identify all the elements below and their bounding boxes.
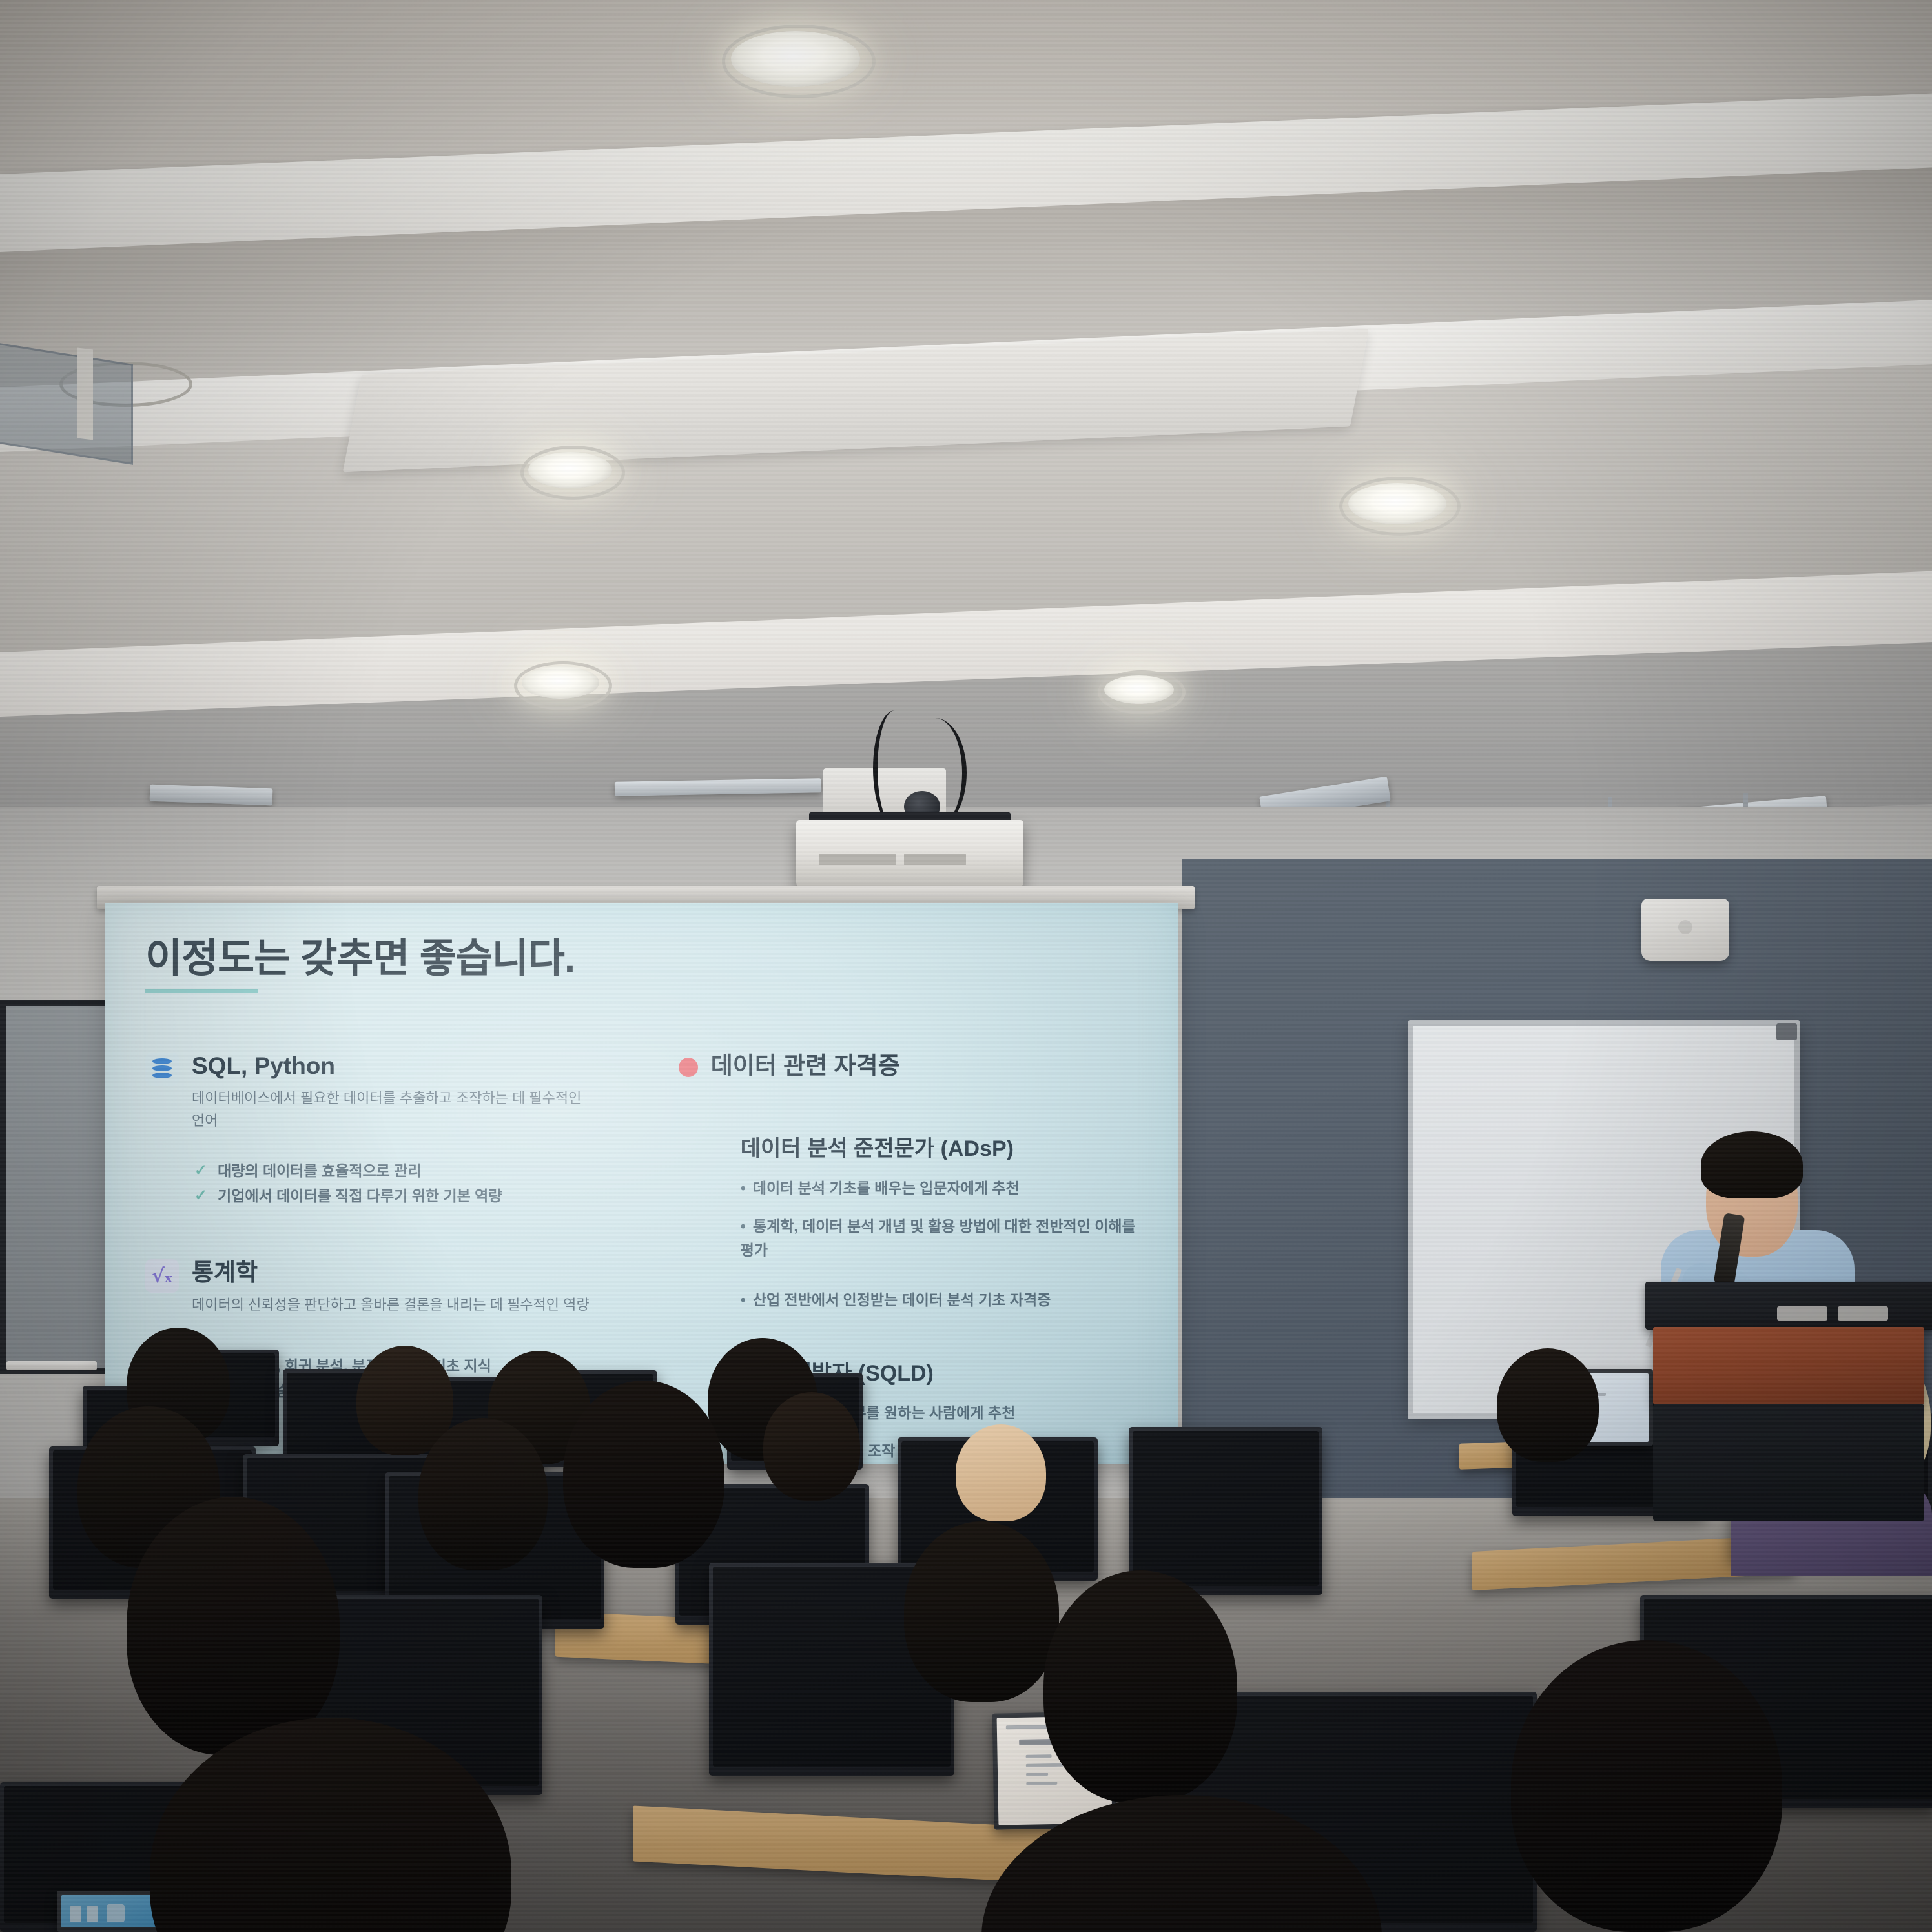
audience-head <box>1511 1640 1782 1932</box>
left-board-tray <box>6 1361 97 1370</box>
title-underline <box>145 989 258 993</box>
laptop-content-line <box>1026 1782 1057 1785</box>
certificates-heading: 데이터 관련 자격증 <box>711 1053 900 1080</box>
certificate-bullet: 데이터 분석 기초를 배우는 입문자에게 추천 <box>741 1177 1138 1200</box>
topic-description: 데이터의 신뢰성을 판단하고 올바른 결론을 내리는 데 필수적인 역량 <box>192 1293 590 1317</box>
projector-port-row <box>904 854 966 865</box>
podium <box>1653 1327 1924 1404</box>
left-wall-board <box>0 1000 111 1374</box>
audience-head <box>904 1521 1059 1702</box>
ceiling <box>0 0 1932 852</box>
downlight-ring <box>1098 670 1186 714</box>
audience-head <box>956 1424 1046 1521</box>
podium-front-panel <box>1653 1404 1924 1521</box>
audience-head <box>418 1418 548 1570</box>
monitor <box>1129 1427 1322 1595</box>
monitor-screen <box>1133 1431 1319 1586</box>
topic-checklist: ✓ 대량의 데이터를 효율적으로 관리 ✓ 기업에서 데이터를 직접 다루기 위… <box>145 1158 645 1209</box>
certificates-header: 데이터 관련 자격증 <box>679 1053 1138 1080</box>
laptop-content-line <box>87 1906 98 1922</box>
square-root-icon: √x <box>145 1259 179 1293</box>
slide-title: 이정도는 갖추면 좋습니다. <box>145 938 1138 980</box>
downlight-ring <box>514 661 612 710</box>
check-item: ✓ 대량의 데이터를 효율적으로 관리 <box>194 1158 645 1184</box>
audience-head <box>1043 1570 1237 1803</box>
presenter-hair <box>1701 1131 1803 1198</box>
podium-control-panel <box>1777 1306 1827 1321</box>
check-label: 대량의 데이터를 효율적으로 관리 <box>218 1158 421 1184</box>
check-label: 기업에서 데이터를 직접 다루기 위한 기본 역량 <box>218 1184 502 1209</box>
laptop-content-line <box>1026 1763 1064 1767</box>
downlight-ring <box>1339 477 1461 536</box>
projector-cable <box>904 718 967 828</box>
laptop-content-line <box>1026 1754 1052 1758</box>
audience-head <box>563 1381 724 1568</box>
laptop-content-line <box>107 1904 125 1922</box>
check-item: ✓ 기업에서 데이터를 직접 다루기 위한 기본 역량 <box>194 1184 645 1209</box>
database-icon <box>145 1053 179 1086</box>
whiteboard-corner <box>1776 1023 1797 1040</box>
check-icon: ✓ <box>194 1158 207 1182</box>
topic-heading: 통계학 <box>192 1259 590 1287</box>
laptop-content-line <box>70 1906 81 1922</box>
laptop-content-line <box>1026 1773 1048 1776</box>
downlight-ring <box>722 25 876 98</box>
projector-port-row <box>819 854 896 865</box>
certificate-block-adsp: 데이터 분석 준전문가 (ADsP) 데이터 분석 기초를 배우는 입문자에게 … <box>741 1131 1138 1313</box>
certificate-bullet: 산업 전반에서 인정받는 데이터 분석 기초 자격증 <box>741 1288 1138 1312</box>
audience-head <box>1497 1348 1599 1462</box>
topic-block-sql-python: SQL, Python 데이터베이스에서 필요한 데이터를 추출하고 조작하는 … <box>145 1053 645 1209</box>
topic-description: 데이터베이스에서 필요한 데이터를 추출하고 조작하는 데 필수적인 언어 <box>192 1087 592 1133</box>
lecture-hall-photo: 이정도는 갖추면 좋습니다. SQL, Python <box>0 0 1932 1932</box>
topic-heading: SQL, Python <box>192 1053 592 1080</box>
downlight-ring <box>520 446 625 500</box>
certificate-bullet: 통계학, 데이터 분석 개념 및 활용 방법에 대한 전반적인 이해를 평가 <box>741 1215 1138 1263</box>
wall-speaker <box>1641 899 1729 961</box>
audience-head <box>763 1392 860 1501</box>
certificate-name: 데이터 분석 준전문가 (ADsP) <box>741 1131 1138 1162</box>
podium-control-panel <box>1838 1306 1888 1321</box>
check-icon: ✓ <box>194 1184 207 1207</box>
podium-console <box>1645 1282 1932 1330</box>
downlight-ring-unlit <box>59 362 192 407</box>
red-dot-icon <box>679 1058 698 1077</box>
audience-head <box>127 1497 340 1755</box>
